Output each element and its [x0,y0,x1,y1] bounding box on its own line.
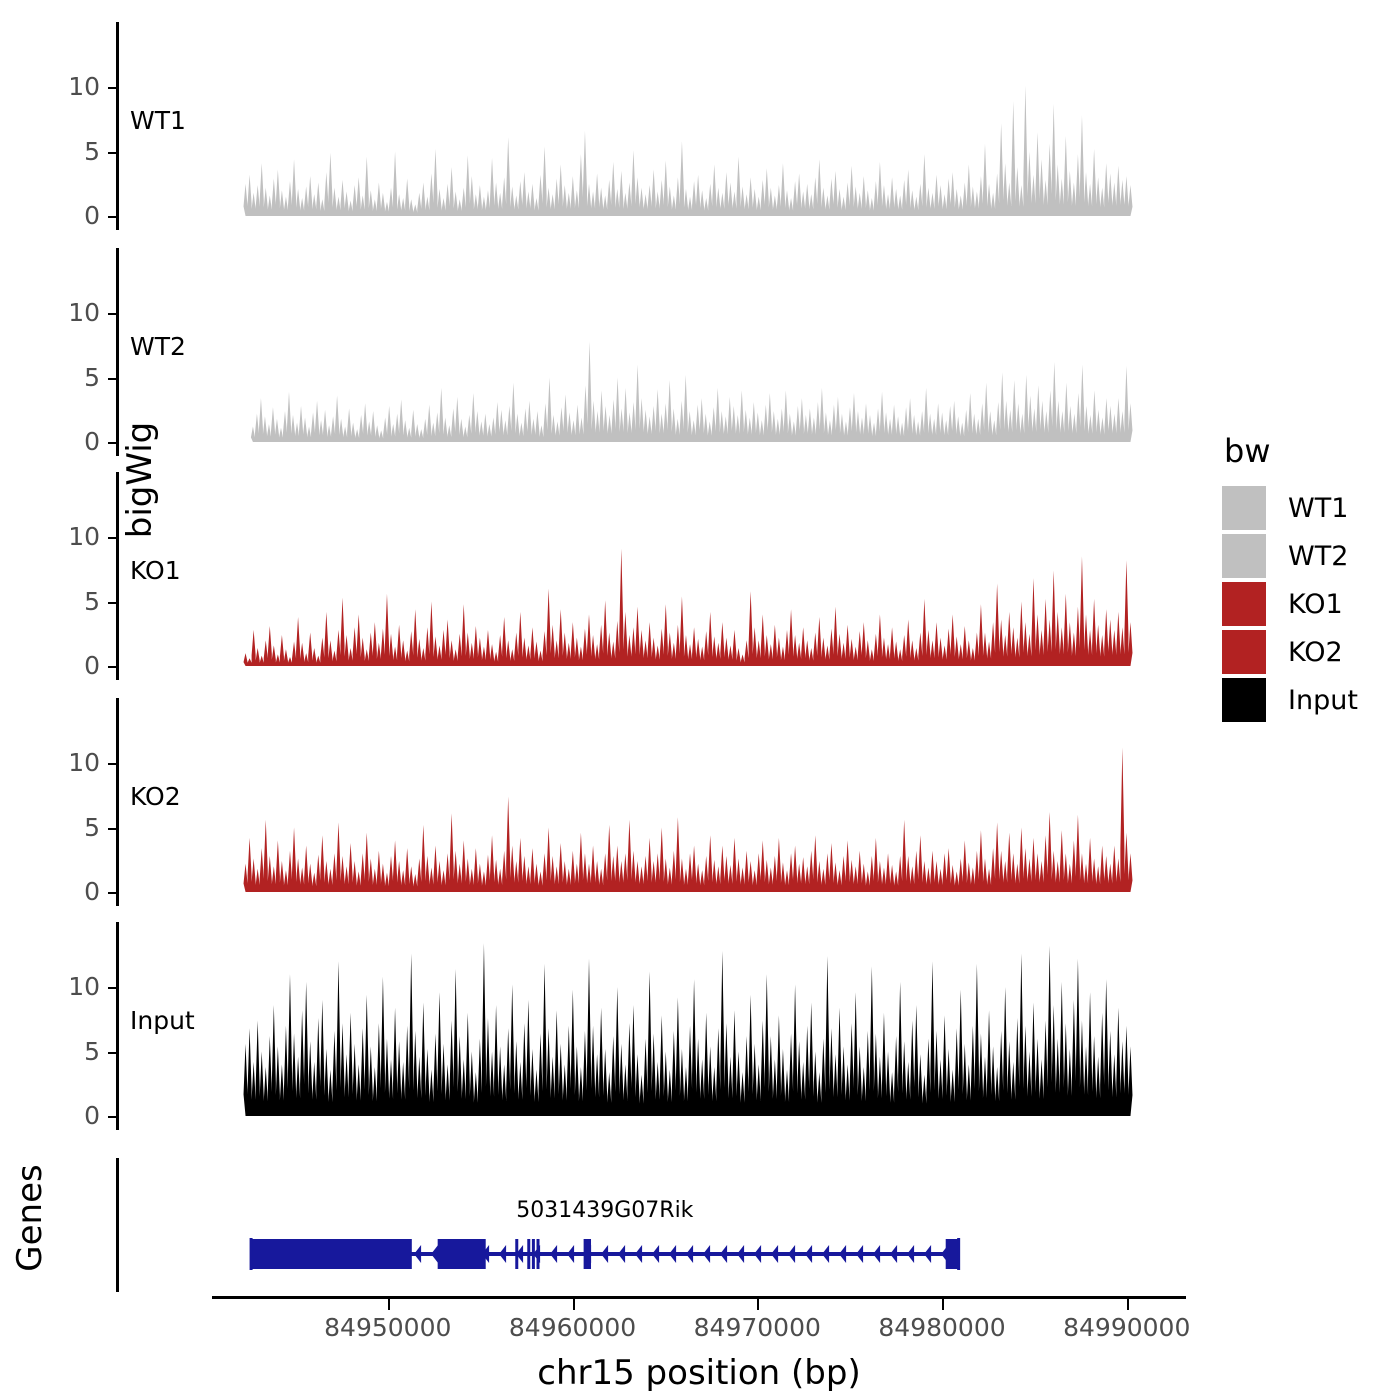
track-plot-area [240,922,1136,1130]
legend-label: WT1 [1288,493,1348,524]
coverage-area-wt2 [251,341,1133,442]
track-label-ko2: KO2 [130,782,181,811]
track-panel-input: 0510Input [0,922,1400,1130]
gene-exon [438,1239,486,1269]
track-label-ko1: KO1 [130,556,181,585]
gene-exon [584,1239,591,1269]
legend: bw WT1WT2KO1KO2Input [1222,432,1392,724]
strand-arrow-left-icon [567,1245,574,1263]
coverage-area-wt1 [244,86,1133,216]
y-tick [108,1052,117,1054]
track-label-wt2: WT2 [130,332,186,361]
strand-arrow-left-icon [499,1245,506,1263]
x-tick [573,1299,575,1310]
gene-exon [251,1239,412,1269]
y-axis-line [116,922,119,1130]
legend-label: WT2 [1288,541,1348,572]
x-axis-line [212,1296,1186,1299]
x-tick-label: 84970000 [657,1313,857,1342]
gene-exon [946,1239,959,1269]
strand-arrow-left-icon [703,1245,710,1263]
y-tick-label: 0 [40,651,100,680]
legend-label: Input [1288,685,1358,716]
y-axis-line [116,472,119,680]
y-tick [108,313,117,315]
legend-label: KO2 [1288,637,1343,668]
x-tick-label: 84980000 [842,1313,1042,1342]
legend-item-wt1[interactable]: WT1 [1222,484,1392,532]
legend-title: bw [1224,432,1392,470]
track-plot-area [240,472,1136,680]
strand-arrow-left-icon [754,1245,761,1263]
gene-exon [527,1239,530,1269]
y-tick [108,378,117,380]
y-tick [108,1116,117,1118]
strand-arrow-left-icon [720,1245,727,1263]
strand-arrow-left-icon [890,1245,897,1263]
x-tick-label: 84950000 [288,1313,488,1342]
legend-item-input[interactable]: Input [1222,676,1392,724]
y-tick [108,892,117,894]
strand-arrow-left-icon [414,1245,421,1263]
gene-terminus [957,1238,960,1270]
y-tick [108,152,117,154]
genome-browser-figure: bigWig Genes 0510WT10510WT20510KO10510KO… [0,0,1400,1400]
y-tick-label: 10 [40,298,100,327]
strand-arrow-left-icon [550,1245,557,1263]
strand-arrow-left-icon [669,1245,676,1263]
y-tick [108,537,117,539]
x-tick [757,1299,759,1310]
y-tick-label: 5 [40,363,100,392]
y-tick-label: 10 [40,72,100,101]
y-tick-label: 10 [40,522,100,551]
y-tick [108,987,117,989]
track-label-input: Input [130,1006,195,1035]
track-panel-wt2: 0510WT2 [0,248,1400,456]
strand-arrow-left-icon [618,1245,625,1263]
gene-label: 5031439G07Rik [405,1198,805,1223]
y-tick [108,87,117,89]
track-panel-ko1: 0510KO1 [0,472,1400,680]
gene-exon [537,1239,540,1269]
track-plot-area [240,698,1136,906]
legend-swatch-ko1 [1222,582,1266,626]
y-tick-label: 5 [40,813,100,842]
track-plot-area [240,22,1136,230]
legend-label: KO1 [1288,589,1343,620]
y-tick [108,216,117,218]
strand-arrow-left-icon [839,1245,846,1263]
strand-arrow-left-icon [737,1245,744,1263]
x-tick [1127,1299,1129,1310]
coverage-area-input [244,943,1133,1116]
x-tick-label: 84990000 [1027,1313,1227,1342]
legend-swatch-wt1 [1222,486,1266,530]
strand-arrow-left-icon [652,1245,659,1263]
genes-axis-title: Genes [12,1118,48,1318]
y-tick [108,828,117,830]
y-tick-label: 0 [40,1101,100,1130]
strand-arrow-left-icon [822,1245,829,1263]
y-tick-label: 5 [40,587,100,616]
gene-exon [515,1239,518,1269]
strand-arrow-left-icon [686,1245,693,1263]
x-axis-title: chr15 position (bp) [212,1353,1186,1393]
gene-terminus [250,1238,253,1270]
track-panel-ko2: 0510KO2 [0,698,1400,906]
x-tick-label: 84960000 [473,1313,673,1342]
y-tick [108,602,117,604]
strand-arrow-left-icon [907,1245,914,1263]
y-axis-line [116,248,119,456]
y-tick-label: 0 [40,877,100,906]
gene-exon [532,1239,535,1269]
coverage-area-ko1 [244,549,1133,666]
y-tick-label: 10 [40,748,100,777]
y-tick-label: 10 [40,972,100,1001]
y-tick [108,763,117,765]
genes-axis-line [116,1158,119,1292]
strand-arrow-left-icon [431,1245,438,1263]
y-tick-label: 0 [40,427,100,456]
legend-item-wt2[interactable]: WT2 [1222,532,1392,580]
legend-swatch-input [1222,678,1266,722]
strand-arrow-left-icon [635,1245,642,1263]
y-tick-label: 0 [40,201,100,230]
y-axis-line [116,22,119,230]
y-tick [108,666,117,668]
track-panel-wt1: 0510WT1 [0,22,1400,230]
strand-arrow-left-icon [924,1245,931,1263]
strand-arrow-left-icon [771,1245,778,1263]
legend-item-ko2[interactable]: KO2 [1222,628,1392,676]
genes-plot-area [240,1158,1136,1292]
y-axis-line [116,698,119,906]
x-tick [942,1299,944,1310]
legend-items: WT1WT2KO1KO2Input [1222,484,1392,724]
strand-arrow-left-icon [805,1245,812,1263]
y-tick [108,442,117,444]
legend-swatch-ko2 [1222,630,1266,674]
track-plot-area [240,248,1136,456]
strand-arrow-left-icon [873,1245,880,1263]
strand-arrow-left-icon [856,1245,863,1263]
strand-arrow-left-icon [788,1245,795,1263]
legend-item-ko1[interactable]: KO1 [1222,580,1392,628]
coverage-area-ko2 [244,748,1133,892]
track-label-wt1: WT1 [130,106,186,135]
y-tick-label: 5 [40,137,100,166]
strand-arrow-left-icon [601,1245,608,1263]
legend-swatch-wt2 [1222,534,1266,578]
x-tick [388,1299,390,1310]
y-tick-label: 5 [40,1037,100,1066]
